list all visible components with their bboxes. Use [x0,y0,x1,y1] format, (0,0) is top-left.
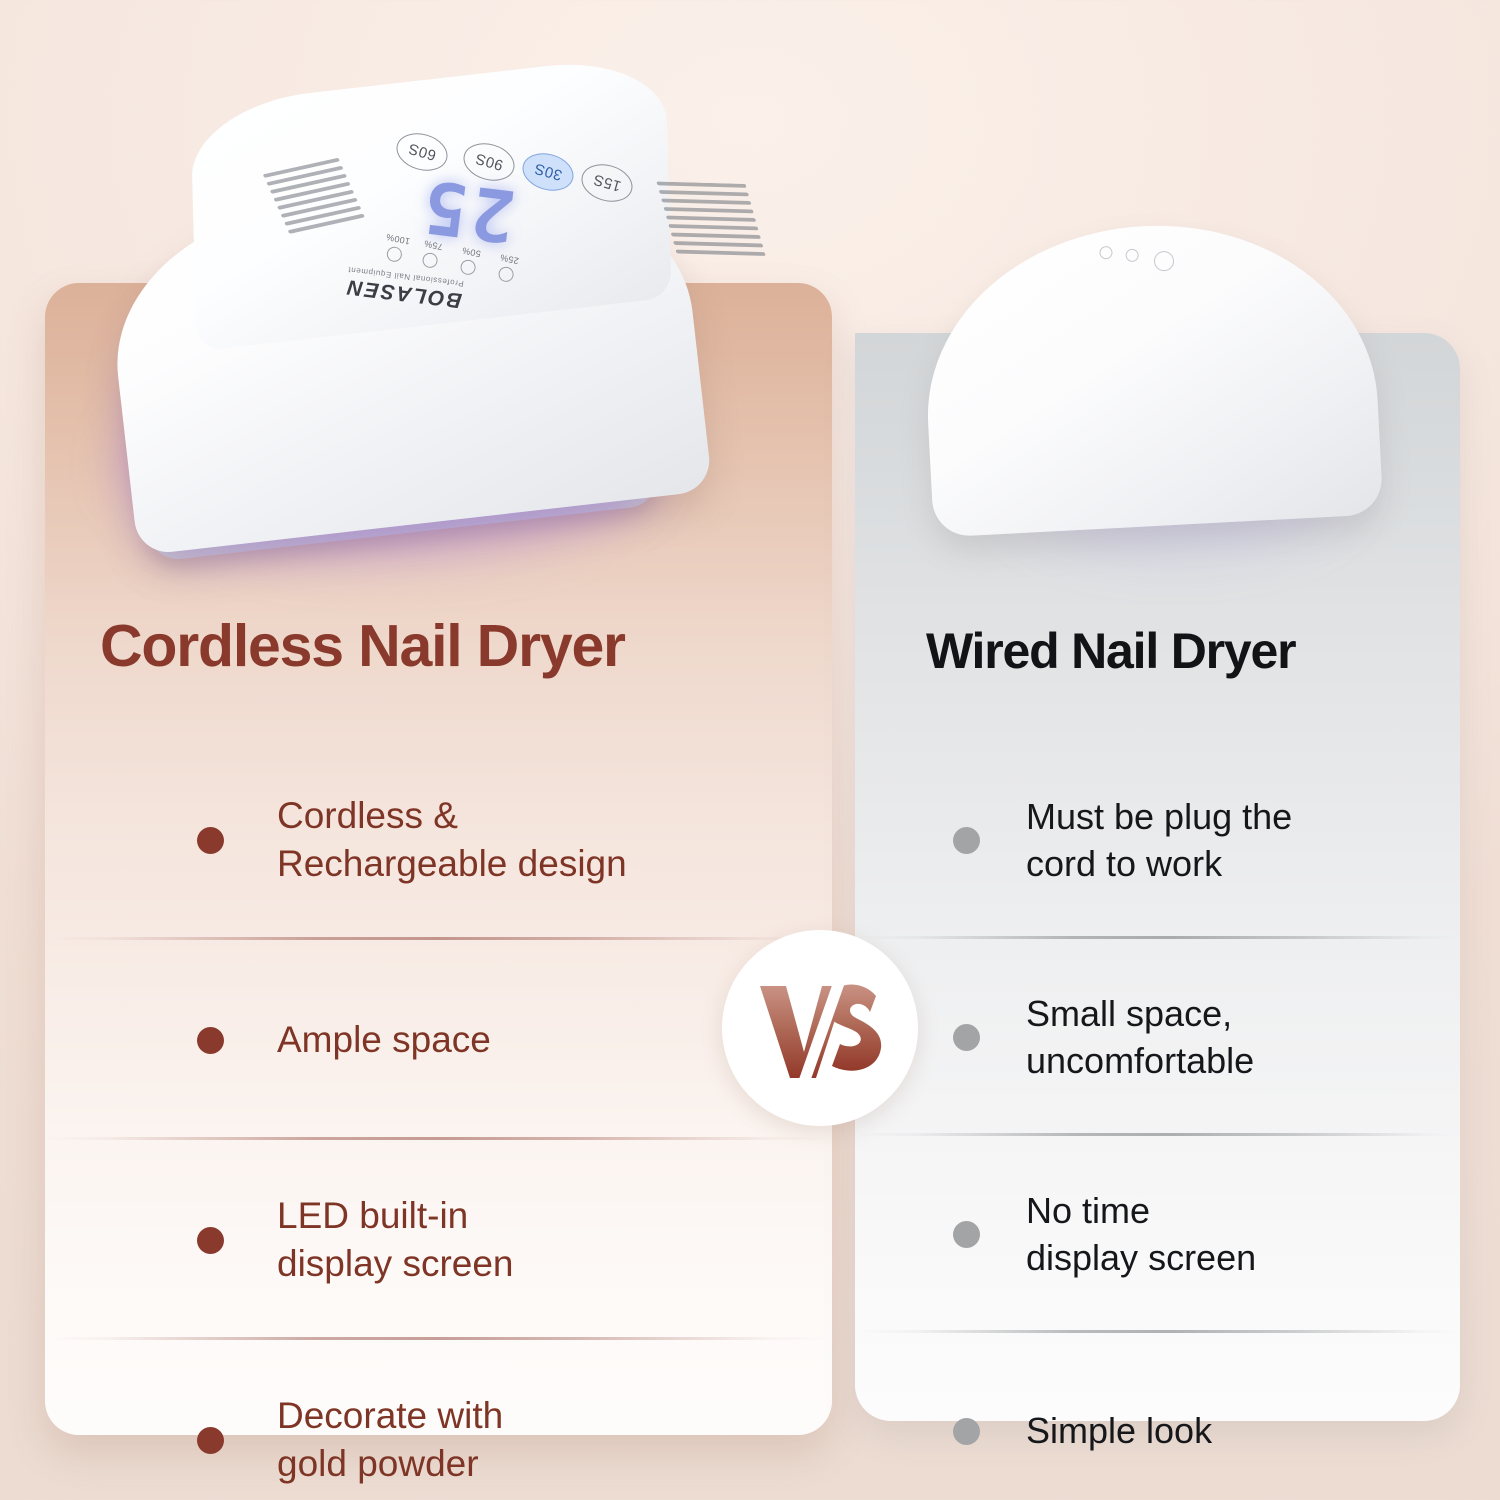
bullet-dot-icon [953,827,980,854]
list-item: Decorate with gold powder [45,1340,832,1500]
power-button-icon[interactable] [1153,251,1174,272]
list-item: Must be plug the cord to work [855,742,1460,939]
list-item-label: Ample space [277,1016,491,1064]
vs-badge [722,930,918,1126]
list-item-label: No time display screen [1026,1188,1256,1280]
bullet-dot-icon [197,1227,224,1254]
list-item: Small space, uncomfortable [855,939,1460,1136]
vs-logo-icon [756,974,884,1082]
battery-dot-icon [459,258,477,276]
bullet-dot-icon [953,1418,980,1445]
list-item-label: Small space, uncomfortable [1026,991,1254,1083]
cordless-nail-dryer-product-image: 60S 90S 30S 15S 25 100% 75% 50% 25% BOLA… [104,44,720,574]
list-item: No time display screen [855,1136,1460,1333]
device-shell [918,214,1383,537]
bullet-dot-icon [197,1427,224,1454]
bullet-dot-icon [953,1221,980,1248]
wired-nail-dryer-product-image [900,216,1420,536]
list-item: Ample space [45,940,832,1140]
control-dot-icon[interactable] [1125,248,1139,262]
list-item: Simple look [855,1333,1460,1500]
vent-left-icon [263,158,377,260]
bullet-dot-icon [953,1024,980,1051]
list-item-label: Cordless & Rechargeable design [277,792,627,888]
list-item-label: Must be plug the cord to work [1026,794,1292,886]
bullet-dot-icon [197,1027,224,1054]
cordless-feature-list: Cordless & Rechargeable design Ample spa… [45,740,832,1500]
wired-panel-title: Wired Nail Dryer [926,622,1295,680]
list-item: LED built-in display screen [45,1140,832,1340]
battery-dot-icon [421,251,439,269]
battery-dot-icon [386,245,404,263]
bullet-dot-icon [197,827,224,854]
control-dot-icon[interactable] [1099,246,1113,260]
wired-feature-list: Must be plug the cord to work Small spac… [855,742,1460,1500]
list-item-label: LED built-in display screen [277,1192,514,1288]
list-item: Cordless & Rechargeable design [45,740,832,940]
list-item-label: Simple look [1026,1408,1212,1454]
battery-dot-icon [497,265,515,283]
cordless-panel-title: Cordless Nail Dryer [100,612,625,680]
list-item-label: Decorate with gold powder [277,1392,503,1488]
